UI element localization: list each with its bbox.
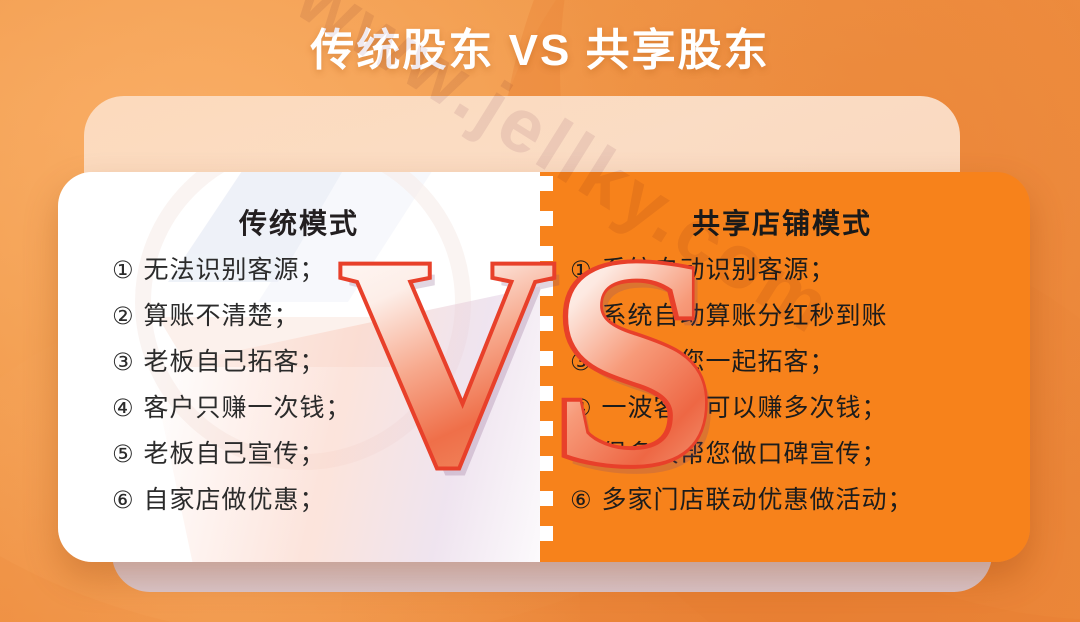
list-item-number: ④ xyxy=(112,397,135,421)
list-item: ⑥ 多家门店联动优惠做活动； xyxy=(570,488,1030,513)
list-item-number: ② xyxy=(112,305,135,329)
list-item-text: 一波客户可以赚多次钱； xyxy=(602,396,888,421)
list-item-text: 系统自动算账分红秒到账 xyxy=(602,304,888,329)
list-item: ⑤ 老板自己宣传； xyxy=(112,442,540,467)
page-title: 传统股东 VS 共享股东 xyxy=(0,24,1080,78)
list-item-text: 股东帮您一起拓客； xyxy=(602,350,836,375)
list-item: ① 无法识别客源； xyxy=(112,258,540,283)
list-item-number: ③ xyxy=(112,351,135,375)
shared-shop-mode-title: 共享店铺模式 xyxy=(540,202,1030,242)
list-item-number: ⑤ xyxy=(112,443,135,467)
traditional-mode-panel: 传统模式 ① 无法识别客源； ② 算账不清楚； ③ 老板自己拓客； xyxy=(58,172,540,562)
shared-shop-mode-content: 共享店铺模式 ① 系统自动识别客源； ② 系统自动算账分红秒到账 ③ 股东帮您一… xyxy=(540,172,1030,562)
list-item-text: 老板自己宣传； xyxy=(144,442,326,467)
list-item: ① 系统自动识别客源； xyxy=(570,258,1030,283)
list-item-text: 很多人帮您做口碑宣传； xyxy=(602,442,888,467)
list-item: ④ 一波客户可以赚多次钱； xyxy=(570,396,1030,421)
list-item-text: 算账不清楚； xyxy=(144,304,300,329)
list-item: ③ 老板自己拓客； xyxy=(112,350,540,375)
comparison-ticket-card: 传统模式 ① 无法识别客源； ② 算账不清楚； ③ 老板自己拓客； xyxy=(58,172,1030,562)
list-item-number: ④ xyxy=(570,397,593,421)
shared-shop-mode-panel: 共享店铺模式 ① 系统自动识别客源； ② 系统自动算账分红秒到账 ③ 股东帮您一… xyxy=(540,172,1030,562)
traditional-mode-content: 传统模式 ① 无法识别客源； ② 算账不清楚； ③ 老板自己拓客； xyxy=(58,172,540,562)
list-item-text: 无法识别客源； xyxy=(144,258,326,283)
list-item-number: ⑥ xyxy=(570,489,593,513)
list-item-text: 客户只赚一次钱； xyxy=(144,396,352,421)
list-item-text: 系统自动识别客源； xyxy=(602,258,836,283)
list-item: ④ 客户只赚一次钱； xyxy=(112,396,540,421)
infographic-canvas: 传统股东 VS 共享股东 传统模式 ① 无法识别客源； xyxy=(0,0,1080,622)
list-item: ③ 股东帮您一起拓客； xyxy=(570,350,1030,375)
list-item-number: ① xyxy=(570,259,593,283)
list-item: ⑤ 很多人帮您做口碑宣传； xyxy=(570,442,1030,467)
list-item-number: ② xyxy=(570,305,593,329)
list-item-number: ③ xyxy=(570,351,593,375)
list-item-text: 自家店做优惠； xyxy=(144,488,326,513)
list-item-number: ⑤ xyxy=(570,443,593,467)
list-item: ⑥ 自家店做优惠； xyxy=(112,488,540,513)
list-item: ② 系统自动算账分红秒到账 xyxy=(570,304,1030,329)
list-item-text: 老板自己拓客； xyxy=(144,350,326,375)
list-item: ② 算账不清楚； xyxy=(112,304,540,329)
shared-shop-mode-list: ① 系统自动识别客源； ② 系统自动算账分红秒到账 ③ 股东帮您一起拓客； ④ … xyxy=(540,258,1030,513)
list-item-number: ① xyxy=(112,259,135,283)
list-item-text: 多家门店联动优惠做活动； xyxy=(602,488,914,513)
traditional-mode-list: ① 无法识别客源； ② 算账不清楚； ③ 老板自己拓客； ④ 客户只赚一次钱； xyxy=(58,258,540,513)
list-item-number: ⑥ xyxy=(112,489,135,513)
traditional-mode-title: 传统模式 xyxy=(58,202,540,242)
